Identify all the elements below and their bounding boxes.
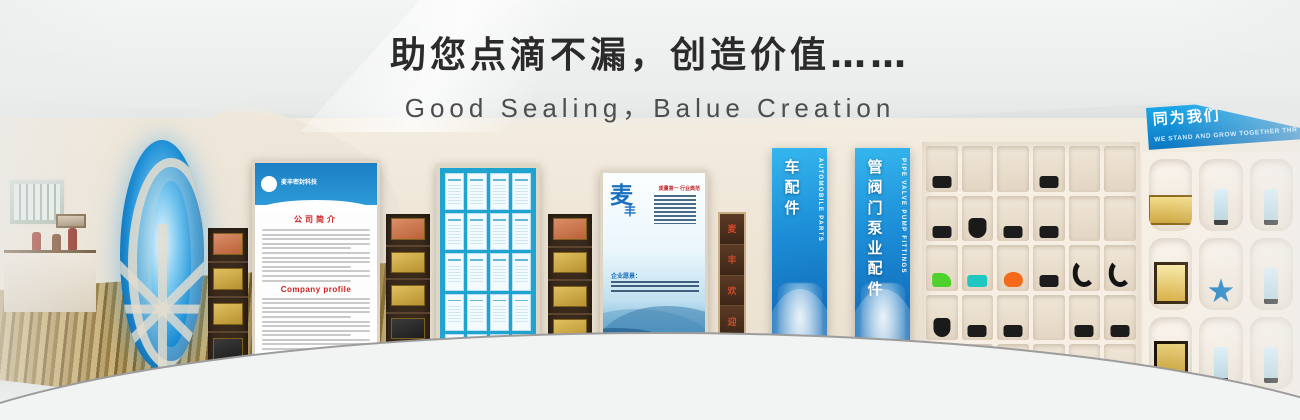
company-logo-text: 麦丰密封科技 [281, 180, 317, 187]
award-cell [1250, 159, 1293, 231]
certificate [467, 253, 486, 290]
award-plaque [213, 268, 243, 290]
award-niche-column [208, 228, 248, 368]
award-plaque [553, 218, 586, 239]
welcome-char: 丰 [720, 245, 744, 276]
certificate [512, 213, 531, 250]
award-niche [208, 228, 248, 263]
award-niche [548, 248, 592, 282]
certificate [490, 294, 509, 331]
award-plaque [391, 252, 424, 273]
certificate [490, 173, 509, 210]
product-cell [1033, 295, 1065, 341]
gear-spoke [158, 224, 167, 370]
welcome-char: 欢 [720, 276, 744, 307]
company-logo-icon [261, 176, 277, 192]
poster-vision-title: 企业愿景： [611, 271, 641, 280]
award-niche [386, 214, 430, 247]
product-cell [926, 295, 958, 341]
award-plaque [553, 286, 586, 307]
banner-title-en: PIPE VALVE PUMP FITTINGS [898, 158, 907, 274]
award-plaque [553, 252, 586, 273]
certificate [445, 294, 464, 331]
certificate [467, 213, 486, 250]
award-niche [386, 247, 430, 280]
product-cell [1033, 196, 1065, 242]
certificate [445, 173, 464, 210]
product-cell [1069, 196, 1101, 242]
poster-bullet-list [654, 195, 700, 227]
strip-banner-en: WE STAND AND GROW TOGETHER THR [1154, 126, 1298, 143]
award-plaque [213, 303, 243, 325]
banner-title-en: AUTOMOBILE PARTS [815, 158, 824, 242]
poster-brand-sub: 丰 [624, 206, 635, 217]
product-cell [926, 196, 958, 242]
product-cell [1104, 245, 1136, 291]
decor-vase [32, 232, 41, 250]
headline-block: 助您点滴不漏，创造价值…… Good Sealing，Balue Creatio… [0, 26, 1300, 125]
decor-vase [68, 228, 77, 250]
product-cell [962, 196, 994, 242]
certificate [512, 294, 531, 331]
product-cell [1069, 245, 1101, 291]
product-cell [1104, 295, 1136, 341]
award-plaque [391, 318, 424, 339]
product-cell [962, 245, 994, 291]
certificate [512, 173, 531, 210]
decor-vase [52, 234, 61, 252]
product-cell [1033, 146, 1065, 192]
award-cell [1199, 238, 1242, 310]
award-niche [548, 214, 592, 248]
profile-board-header: 麦丰密封科技 [255, 163, 377, 205]
certificate [490, 213, 509, 250]
product-cell [962, 146, 994, 192]
award-plaque [391, 218, 424, 239]
product-cell [997, 196, 1029, 242]
product-cell [997, 295, 1029, 341]
reception-counter [4, 250, 96, 312]
banner-title-cn: 车配件 [780, 158, 804, 219]
award-plaque [391, 285, 424, 306]
product-cell [1104, 196, 1136, 242]
wall-picture [56, 214, 86, 228]
award-cell [1149, 238, 1192, 310]
circular-gear-globe-feature [120, 140, 204, 370]
welcome-char: 迎 [720, 306, 744, 337]
award-niche [208, 263, 248, 298]
certificate [467, 294, 486, 331]
headline-chinese: 助您点滴不漏，创造价值…… [0, 26, 1300, 78]
overlay-bottom-curve [0, 350, 1300, 420]
welcome-char: 麦 [720, 214, 744, 245]
product-cell [926, 146, 958, 192]
reception-area [0, 150, 108, 380]
award-plaque [213, 233, 243, 255]
product-cell [1069, 295, 1101, 341]
award-cell [1250, 238, 1293, 310]
certificate [490, 253, 509, 290]
banner-title-cn: 管阀门 泵业配件 [863, 158, 887, 300]
profile-title-cn: 公司简介 [255, 214, 377, 225]
product-cell [962, 295, 994, 341]
product-cell [997, 146, 1029, 192]
product-cell [1033, 245, 1065, 291]
award-cell [1149, 159, 1192, 231]
poster-brand-main: 麦 丰 [610, 185, 635, 217]
product-cell [926, 245, 958, 291]
showroom-hero-banner: 麦丰密封科技 公司简介 Company profile http://www.x… [0, 0, 1300, 420]
poster-highlight-title: 质量第一 行业典范 [659, 185, 700, 192]
certificate [512, 253, 531, 290]
product-cell [1104, 146, 1136, 192]
profile-title-en: Company profile [262, 285, 370, 294]
award-cell [1199, 159, 1242, 231]
award-niche [386, 280, 430, 313]
product-cell [1069, 146, 1101, 192]
certificate [467, 173, 486, 210]
certificate [445, 253, 464, 290]
headline-english: Good Sealing，Balue Creation [0, 88, 1300, 125]
award-niche [548, 281, 592, 315]
certificate [445, 213, 464, 250]
product-cell [997, 245, 1029, 291]
award-niche [208, 298, 248, 333]
